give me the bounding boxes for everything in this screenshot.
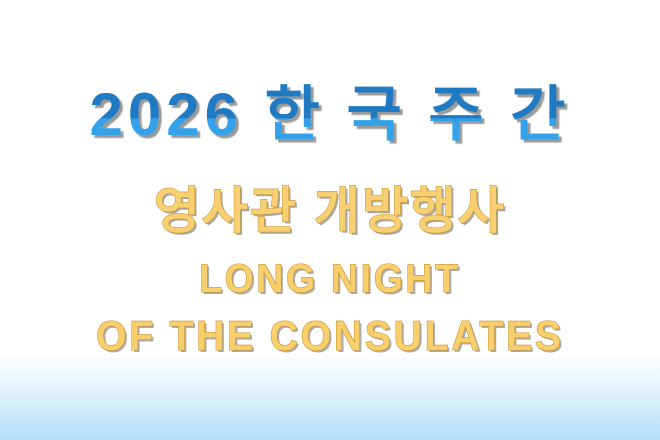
subheading-long-night-text: LONG NIGHT — [23, 256, 637, 302]
heading-year-korea-week: 2026 한 국 주 간 2026 한 국 주 간 — [0, 76, 660, 154]
presentation-slide: 2026 한 국 주 간 2026 한 국 주 간 영사관 개방행사 영사관 개… — [0, 0, 660, 440]
subheading-consulate-open-house-kr-text: 영사관 개방행사 — [0, 180, 660, 242]
heading-year-korea-week-text: 2026 한 국 주 간 — [0, 76, 660, 154]
subheading-long-night: LONG NIGHT LONG NIGHT — [0, 256, 660, 302]
subheading-consulate-open-house-kr: 영사관 개방행사 영사관 개방행사 — [0, 180, 660, 242]
subheading-of-the-consulates-text: OF THE CONSULATES — [23, 312, 637, 360]
subheading-of-the-consulates: OF THE CONSULATES OF THE CONSULATES — [0, 312, 660, 360]
